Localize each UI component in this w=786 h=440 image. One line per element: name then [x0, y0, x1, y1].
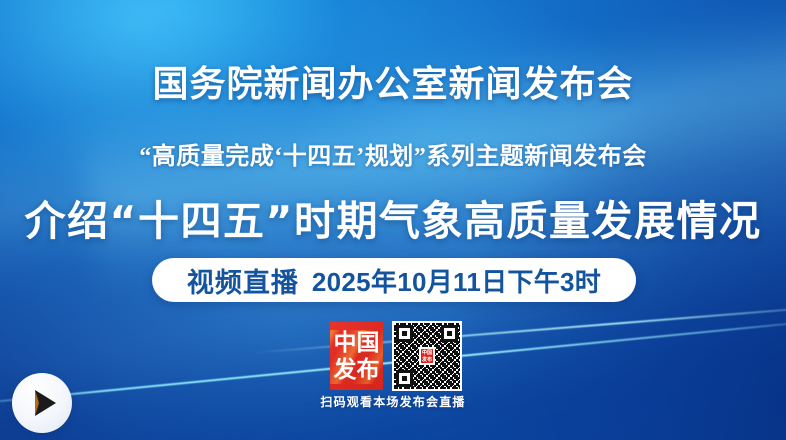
- qr-center-line-one: 中国: [421, 350, 433, 357]
- live-broadcast-badge: 视频直播 2025年10月11日下午3时: [152, 258, 636, 302]
- qr-center-line-two: 发布: [421, 357, 433, 364]
- page-title: 介绍“十四五”时期气象高质量发展情况: [0, 187, 786, 247]
- qr-finder-top-right-icon: [441, 325, 458, 342]
- news-conference-banner: 国务院新闻办公室新闻发布会 “高质量完成‘十四五’规划”系列主题新闻发布会 介绍…: [0, 0, 786, 440]
- organization-title: 国务院新闻办公室新闻发布会: [0, 55, 786, 107]
- qr-code-pattern: 中国 发布: [394, 323, 460, 389]
- qr-code[interactable]: 中国 发布: [392, 321, 462, 391]
- logo-line-two: 发布: [330, 356, 383, 384]
- qr-caption: 扫码观看本场发布会直播: [0, 393, 786, 410]
- play-button[interactable]: [12, 373, 72, 433]
- logo-line-one: 中国: [330, 329, 383, 357]
- series-subtitle: “高质量完成‘十四五’规划”系列主题新闻发布会: [0, 136, 786, 171]
- play-icon: [35, 390, 56, 416]
- qr-finder-top-left-icon: [396, 325, 413, 342]
- china-release-logo: 中国 发布: [330, 322, 383, 390]
- live-badge-label: 视频直播: [187, 261, 299, 300]
- qr-center-logo: 中国 发布: [419, 347, 435, 365]
- qr-finder-bottom-left-icon: [396, 370, 413, 387]
- live-badge-datetime: 2025年10月11日下午3时: [312, 262, 601, 299]
